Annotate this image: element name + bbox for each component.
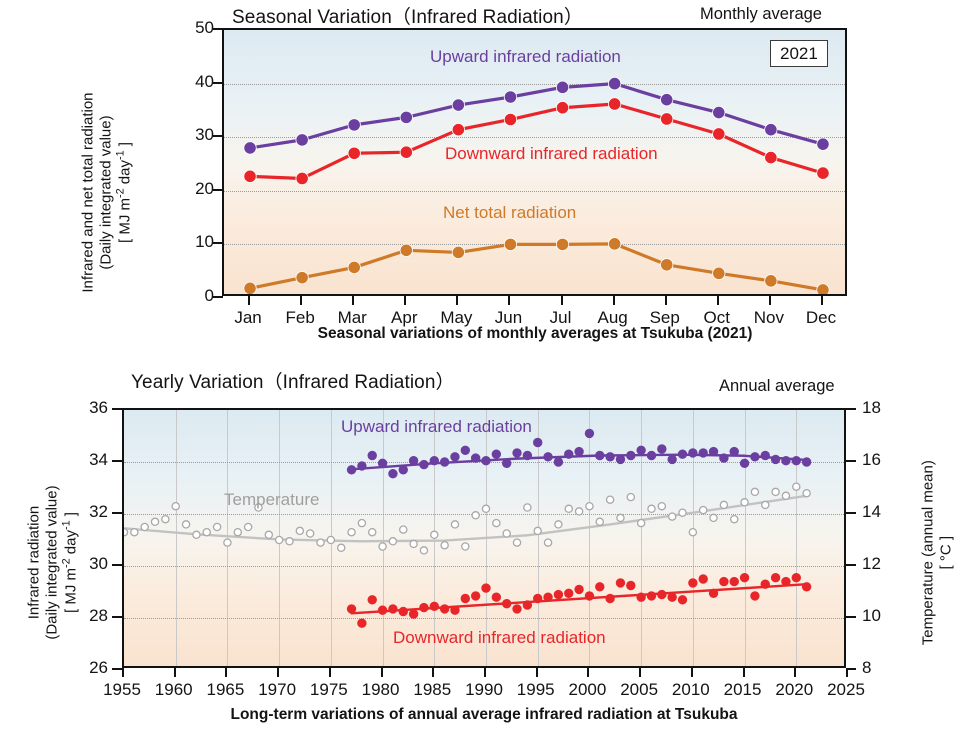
- bottom-data-point: [699, 449, 708, 458]
- top-data-point: [348, 119, 360, 131]
- top-data-point: [608, 98, 620, 110]
- bottom-data-point: [492, 593, 501, 602]
- bottom-ytickmark-right-14: [846, 512, 856, 514]
- top-ytick-20: 20: [178, 179, 214, 199]
- bottom-data-point: [616, 455, 625, 464]
- bottom-xtickmark-2005: [639, 668, 641, 677]
- bottom-data-point: [307, 530, 314, 537]
- bottom-data-point: [617, 514, 624, 521]
- bottom-xtickmark-1960: [174, 668, 176, 677]
- bottom-ytick-right-10: 10: [862, 606, 881, 626]
- bottom-data-point: [679, 509, 686, 516]
- top-caption: Seasonal variations of monthly averages …: [318, 325, 753, 343]
- top-xtickmark-Mar: [352, 296, 354, 305]
- bottom-ytickmark-left-36: [112, 408, 122, 410]
- bottom-ytick-right-18: 18: [862, 398, 881, 418]
- bottom-data-point: [751, 592, 760, 601]
- top-data-point: [713, 128, 725, 140]
- bottom-data-point: [575, 585, 584, 594]
- bottom-data-point: [544, 593, 553, 602]
- bottom-ytick-right-12: 12: [862, 554, 881, 574]
- yearly-variation-chart-panel: Yearly Variation（Infrared Radiation） Ann…: [0, 355, 975, 736]
- top-xtickmark-Oct: [717, 296, 719, 305]
- bottom-xtickmark-1985: [432, 668, 434, 677]
- bottom-ytickmark-right-12: [846, 564, 856, 566]
- bottom-data-point: [441, 542, 448, 549]
- bottom-data-point: [710, 514, 717, 521]
- bottom-data-point: [369, 529, 376, 536]
- bottom-xtickmark-1975: [329, 668, 331, 677]
- bottom-data-point: [699, 575, 708, 584]
- bottom-data-point: [782, 492, 789, 499]
- bottom-data-point: [700, 507, 707, 514]
- bottom-xtick-label-2005: 2005: [620, 680, 658, 700]
- top-ytickmark-30: [213, 135, 223, 137]
- top-data-point: [817, 167, 829, 179]
- bottom-data-point: [689, 529, 696, 536]
- bottom-xtickmark-2025: [846, 668, 848, 677]
- bottom-data-point: [122, 529, 128, 536]
- bottom-xtick-label-1960: 1960: [155, 680, 193, 700]
- bottom-ytick-right-16: 16: [862, 450, 881, 470]
- bottom-chart-corner-note: Annual average: [719, 377, 835, 396]
- top-label-downward: Downward infrared radiation: [445, 144, 658, 164]
- bottom-data-point: [751, 488, 758, 495]
- bottom-data-point: [493, 520, 500, 527]
- bottom-data-point: [482, 456, 491, 465]
- bottom-xtick-label-2020: 2020: [775, 680, 813, 700]
- top-data-point: [661, 93, 673, 105]
- bottom-xtick-label-2010: 2010: [672, 680, 710, 700]
- bottom-trendline-upward: [352, 455, 807, 470]
- top-data-point: [556, 102, 568, 114]
- bottom-data-point: [524, 504, 531, 511]
- bottom-ytick-left-34: 34: [72, 450, 108, 470]
- bottom-ytickmark-left-28: [112, 616, 122, 618]
- bottom-data-point: [658, 503, 665, 510]
- bottom-data-point: [451, 521, 458, 528]
- top-chart-title: Seasonal Variation（Infrared Radiation）: [232, 2, 583, 29]
- bottom-ytick-left-26: 26: [72, 658, 108, 678]
- top-data-point: [661, 113, 673, 125]
- top-y-axis-label-line3: [ MJ m-2 day-1 ]: [115, 68, 135, 318]
- bottom-data-point: [647, 592, 656, 601]
- top-xtick-label-Dec: Dec: [806, 308, 836, 328]
- top-data-point: [713, 106, 725, 118]
- bottom-data-point: [513, 539, 520, 546]
- bottom-ytick-right-14: 14: [862, 502, 881, 522]
- bottom-ytickmark-left-26: [112, 668, 122, 670]
- bottom-data-point: [782, 577, 791, 586]
- bottom-ytickmark-right-10: [846, 616, 856, 618]
- top-y-axis-label-line1: Infrared and net total radiation: [79, 68, 97, 318]
- bottom-xtickmark-2020: [794, 668, 796, 677]
- bottom-data-point: [471, 454, 480, 463]
- top-ytick-40: 40: [178, 72, 214, 92]
- bottom-data-point: [688, 449, 697, 458]
- bottom-data-point: [669, 513, 676, 520]
- bottom-ytickmark-left-30: [112, 564, 122, 566]
- bottom-caption: Long-term variations of annual average i…: [230, 706, 737, 724]
- bottom-data-point: [389, 605, 398, 614]
- top-chart-corner-note: Monthly average: [700, 5, 822, 24]
- bottom-data-point: [213, 523, 220, 530]
- top-xtick-label-Nov: Nov: [754, 308, 784, 328]
- bottom-data-point: [751, 452, 760, 461]
- bottom-xtick-label-1990: 1990: [465, 680, 503, 700]
- bottom-ytick-left-30: 30: [72, 554, 108, 574]
- bottom-xtickmark-1965: [225, 668, 227, 677]
- top-data-point: [817, 138, 829, 150]
- top-xtickmark-Apr: [404, 296, 406, 305]
- bottom-xtick-label-1985: 1985: [413, 680, 451, 700]
- bottom-data-point: [203, 529, 210, 536]
- bottom-data-point: [678, 450, 687, 459]
- bottom-data-point: [638, 520, 645, 527]
- bottom-data-point: [523, 451, 532, 460]
- bottom-data-point: [771, 573, 780, 582]
- top-ytick-0: 0: [178, 286, 214, 306]
- bottom-data-point: [730, 447, 739, 456]
- seasonal-variation-chart-panel: Seasonal Variation（Infrared Radiation） M…: [0, 0, 975, 355]
- bottom-data-point: [409, 456, 418, 465]
- bottom-data-point: [151, 518, 158, 525]
- bottom-xtick-label-2000: 2000: [569, 680, 607, 700]
- bottom-data-point: [357, 462, 366, 471]
- bottom-data-point: [378, 606, 387, 615]
- bottom-data-point: [564, 450, 573, 459]
- top-xtickmark-Sep: [665, 296, 667, 305]
- top-ytick-50: 50: [178, 18, 214, 38]
- bottom-data-point: [596, 518, 603, 525]
- bottom-data-point: [626, 451, 635, 460]
- bottom-xtick-label-1995: 1995: [517, 680, 555, 700]
- top-data-point: [661, 259, 673, 271]
- bottom-ytick-right-8: 8: [862, 658, 871, 678]
- bottom-data-point: [719, 577, 728, 586]
- bottom-xtick-label-1980: 1980: [362, 680, 400, 700]
- bottom-data-point: [286, 538, 293, 545]
- bottom-data-point: [224, 539, 231, 546]
- top-data-point: [348, 147, 360, 159]
- top-data-point: [556, 81, 568, 93]
- bottom-data-point: [668, 455, 677, 464]
- bottom-data-point: [731, 516, 738, 523]
- top-data-point: [244, 170, 256, 182]
- bottom-data-point: [648, 505, 655, 512]
- top-xtickmark-Jul: [561, 296, 563, 305]
- bottom-ytickmark-right-18: [846, 408, 856, 410]
- bottom-data-point: [741, 499, 748, 506]
- top-xtickmark-Jan: [248, 296, 250, 305]
- bottom-data-point: [399, 465, 408, 474]
- bottom-data-point: [637, 593, 646, 602]
- bottom-data-point: [554, 458, 563, 467]
- bottom-data-point: [347, 605, 356, 614]
- top-data-point: [765, 151, 777, 163]
- top-ytickmark-40: [213, 82, 223, 84]
- bottom-data-point: [626, 581, 635, 590]
- bottom-data-point: [378, 459, 387, 468]
- bottom-ytick-left-28: 28: [72, 606, 108, 626]
- top-data-point: [713, 267, 725, 279]
- bottom-y-axis-right-label-line1: Temperature (annual mean): [919, 428, 937, 678]
- bottom-data-point: [440, 605, 449, 614]
- bottom-data-point: [502, 459, 511, 468]
- bottom-label-downward: Downward infrared radiation: [393, 628, 606, 648]
- bottom-data-point: [162, 516, 169, 523]
- bottom-data-point: [564, 589, 573, 598]
- bottom-data-point: [720, 501, 727, 508]
- bottom-data-point: [575, 447, 584, 456]
- bottom-data-point: [709, 589, 718, 598]
- bottom-data-point: [607, 496, 614, 503]
- top-data-point: [296, 172, 308, 184]
- bottom-data-point: [585, 592, 594, 601]
- bottom-data-point: [472, 512, 479, 519]
- bottom-data-point: [420, 547, 427, 554]
- top-data-point: [504, 238, 516, 250]
- bottom-data-point: [678, 595, 687, 604]
- top-series-line-0: [250, 84, 823, 148]
- bottom-data-point: [357, 619, 366, 628]
- bottom-data-point: [430, 602, 439, 611]
- bottom-data-point: [172, 503, 179, 510]
- top-data-point: [400, 146, 412, 158]
- top-y-axis-label-line2: (Daily integrated value): [97, 68, 115, 318]
- bottom-data-point: [534, 527, 541, 534]
- bottom-data-point: [762, 501, 769, 508]
- bottom-xtickmark-1995: [536, 668, 538, 677]
- top-data-point: [765, 124, 777, 136]
- bottom-data-point: [317, 539, 324, 546]
- bottom-data-point: [533, 438, 542, 447]
- bottom-data-point: [234, 529, 241, 536]
- bottom-data-point: [430, 456, 439, 465]
- bottom-data-point: [513, 449, 522, 458]
- bottom-ytickmark-right-16: [846, 460, 856, 462]
- top-series-line-1: [250, 104, 823, 179]
- bottom-xtick-label-2025: 2025: [827, 680, 865, 700]
- bottom-data-point: [409, 610, 418, 619]
- bottom-data-point: [554, 590, 563, 599]
- top-xtickmark-Aug: [613, 296, 615, 305]
- bottom-data-point: [740, 573, 749, 582]
- top-data-point: [296, 271, 308, 283]
- bottom-data-point: [575, 508, 582, 515]
- bottom-data-point: [368, 451, 377, 460]
- bottom-data-point: [492, 450, 501, 459]
- bottom-data-point: [606, 452, 615, 461]
- bottom-data-point: [688, 579, 697, 588]
- bottom-data-point: [503, 530, 510, 537]
- bottom-data-point: [420, 460, 429, 469]
- top-data-point: [556, 238, 568, 250]
- bottom-data-point: [440, 458, 449, 467]
- bottom-data-point: [792, 456, 801, 465]
- bottom-data-point: [358, 520, 365, 527]
- bottom-data-point: [451, 452, 460, 461]
- top-data-point: [817, 284, 829, 296]
- bottom-xtick-label-1970: 1970: [258, 680, 296, 700]
- bottom-data-point: [523, 601, 532, 610]
- top-data-point: [608, 238, 620, 250]
- bottom-data-point: [347, 465, 356, 474]
- bottom-data-point: [657, 445, 666, 454]
- bottom-data-point: [389, 469, 398, 478]
- bottom-xtick-label-1955: 1955: [103, 680, 141, 700]
- bottom-xtickmark-2010: [691, 668, 693, 677]
- top-data-point: [400, 244, 412, 256]
- top-ytickmark-10: [213, 242, 223, 244]
- top-label-upward: Upward infrared radiation: [430, 47, 621, 67]
- bottom-data-point: [595, 451, 604, 460]
- top-xtickmark-May: [456, 296, 458, 305]
- bottom-xtickmark-1970: [277, 668, 279, 677]
- top-label-net: Net total radiation: [443, 203, 576, 223]
- bottom-data-point: [502, 599, 511, 608]
- bottom-data-point: [668, 593, 677, 602]
- bottom-data-point: [709, 447, 718, 456]
- top-data-point: [452, 124, 464, 136]
- bottom-xtickmark-2000: [587, 668, 589, 677]
- bottom-data-point: [761, 580, 770, 589]
- bottom-data-point: [544, 452, 553, 461]
- bottom-data-point: [627, 494, 634, 501]
- bottom-data-point: [420, 603, 429, 612]
- bottom-data-point: [513, 605, 522, 614]
- bottom-xtickmark-1980: [381, 668, 383, 677]
- bottom-ytick-left-32: 32: [72, 502, 108, 522]
- top-ytick-10: 10: [178, 232, 214, 252]
- bottom-xtickmark-1990: [484, 668, 486, 677]
- bottom-data-point: [565, 505, 572, 512]
- bottom-data-point: [461, 446, 470, 455]
- bottom-data-point: [792, 573, 801, 582]
- bottom-data-point: [647, 451, 656, 460]
- bottom-data-point: [585, 429, 594, 438]
- bottom-xtick-label-1965: 1965: [207, 680, 245, 700]
- top-xtickmark-Dec: [821, 296, 823, 305]
- bottom-data-point: [740, 459, 749, 468]
- bottom-ytick-left-36: 36: [72, 398, 108, 418]
- bottom-data-point: [471, 592, 480, 601]
- top-data-point: [400, 111, 412, 123]
- top-data-point: [765, 275, 777, 287]
- top-xtickmark-Feb: [300, 296, 302, 305]
- bottom-data-point: [595, 582, 604, 591]
- bottom-data-point: [761, 451, 770, 460]
- bottom-data-point: [245, 523, 252, 530]
- bottom-xtick-label-2015: 2015: [724, 680, 762, 700]
- bottom-data-point: [400, 526, 407, 533]
- bottom-data-point: [451, 606, 460, 615]
- bottom-chart-title: Yearly Variation（Infrared Radiation）: [131, 367, 455, 394]
- top-y-axis-label: Infrared and net total radiation (Daily …: [79, 68, 134, 318]
- top-data-point: [244, 142, 256, 154]
- bottom-data-point: [368, 595, 377, 604]
- bottom-ytickmark-left-34: [112, 460, 122, 462]
- bottom-data-point: [348, 529, 355, 536]
- top-data-point: [296, 134, 308, 146]
- bottom-data-point: [193, 531, 200, 538]
- top-data-point: [348, 261, 360, 273]
- top-data-point: [608, 77, 620, 89]
- bottom-data-point: [276, 536, 283, 543]
- bottom-data-point: [482, 584, 491, 593]
- bottom-data-point: [389, 538, 396, 545]
- bottom-label-upward: Upward infrared radiation: [341, 417, 532, 437]
- bottom-data-point: [772, 488, 779, 495]
- bottom-y-axis-label-line1: Infrared radiation: [25, 438, 43, 688]
- bottom-data-point: [782, 456, 791, 465]
- bottom-data-point: [802, 582, 811, 591]
- bottom-data-point: [802, 458, 811, 467]
- bottom-ytickmark-left-32: [112, 512, 122, 514]
- bottom-data-point: [327, 536, 334, 543]
- bottom-data-point: [141, 523, 148, 530]
- bottom-data-point: [793, 483, 800, 490]
- bottom-data-point: [771, 455, 780, 464]
- bottom-data-point: [555, 521, 562, 528]
- top-data-point: [452, 246, 464, 258]
- bottom-data-point: [338, 544, 345, 551]
- top-data-point: [452, 99, 464, 111]
- bottom-data-point: [616, 579, 625, 588]
- bottom-data-point: [730, 577, 739, 586]
- top-xtick-label-Jan: Jan: [234, 308, 261, 328]
- top-ytickmark-50: [213, 28, 223, 30]
- bottom-data-point: [265, 531, 272, 538]
- year-badge: 2021: [770, 40, 828, 67]
- bottom-data-point: [533, 594, 542, 603]
- bottom-data-point: [637, 446, 646, 455]
- top-ytick-30: 30: [178, 125, 214, 145]
- bottom-data-point: [296, 527, 303, 534]
- bottom-data-point: [803, 490, 810, 497]
- bottom-data-point: [379, 543, 386, 550]
- top-ytickmark-0: [213, 296, 223, 298]
- top-xtickmark-Jun: [508, 296, 510, 305]
- bottom-data-point: [399, 607, 408, 616]
- top-data-point: [504, 113, 516, 125]
- top-series-line-2: [250, 244, 823, 290]
- top-data-point: [244, 282, 256, 294]
- top-xtickmark-Nov: [769, 296, 771, 305]
- bottom-data-point: [182, 521, 189, 528]
- bottom-data-point: [544, 539, 551, 546]
- bottom-data-point: [431, 531, 438, 538]
- bottom-data-point: [482, 505, 489, 512]
- bottom-xtickmark-2015: [743, 668, 745, 677]
- top-data-point: [504, 91, 516, 103]
- top-xtick-label-Feb: Feb: [285, 308, 314, 328]
- bottom-data-point: [657, 590, 666, 599]
- bottom-data-point: [131, 529, 138, 536]
- bottom-data-point: [461, 594, 470, 603]
- bottom-data-point: [462, 543, 469, 550]
- bottom-xtickmark-1955: [122, 668, 124, 677]
- bottom-data-point: [606, 594, 615, 603]
- bottom-y-axis-right-label-line2: [ °C ]: [937, 428, 955, 678]
- bottom-data-point: [586, 503, 593, 510]
- bottom-xtick-label-1975: 1975: [310, 680, 348, 700]
- top-ytickmark-20: [213, 189, 223, 191]
- bottom-y-axis-label-line2: (Daily integrated value): [43, 438, 61, 688]
- bottom-data-point: [719, 454, 728, 463]
- bottom-data-point: [410, 540, 417, 547]
- bottom-y-axis-right-label: Temperature (annual mean) [ °C ]: [919, 428, 954, 678]
